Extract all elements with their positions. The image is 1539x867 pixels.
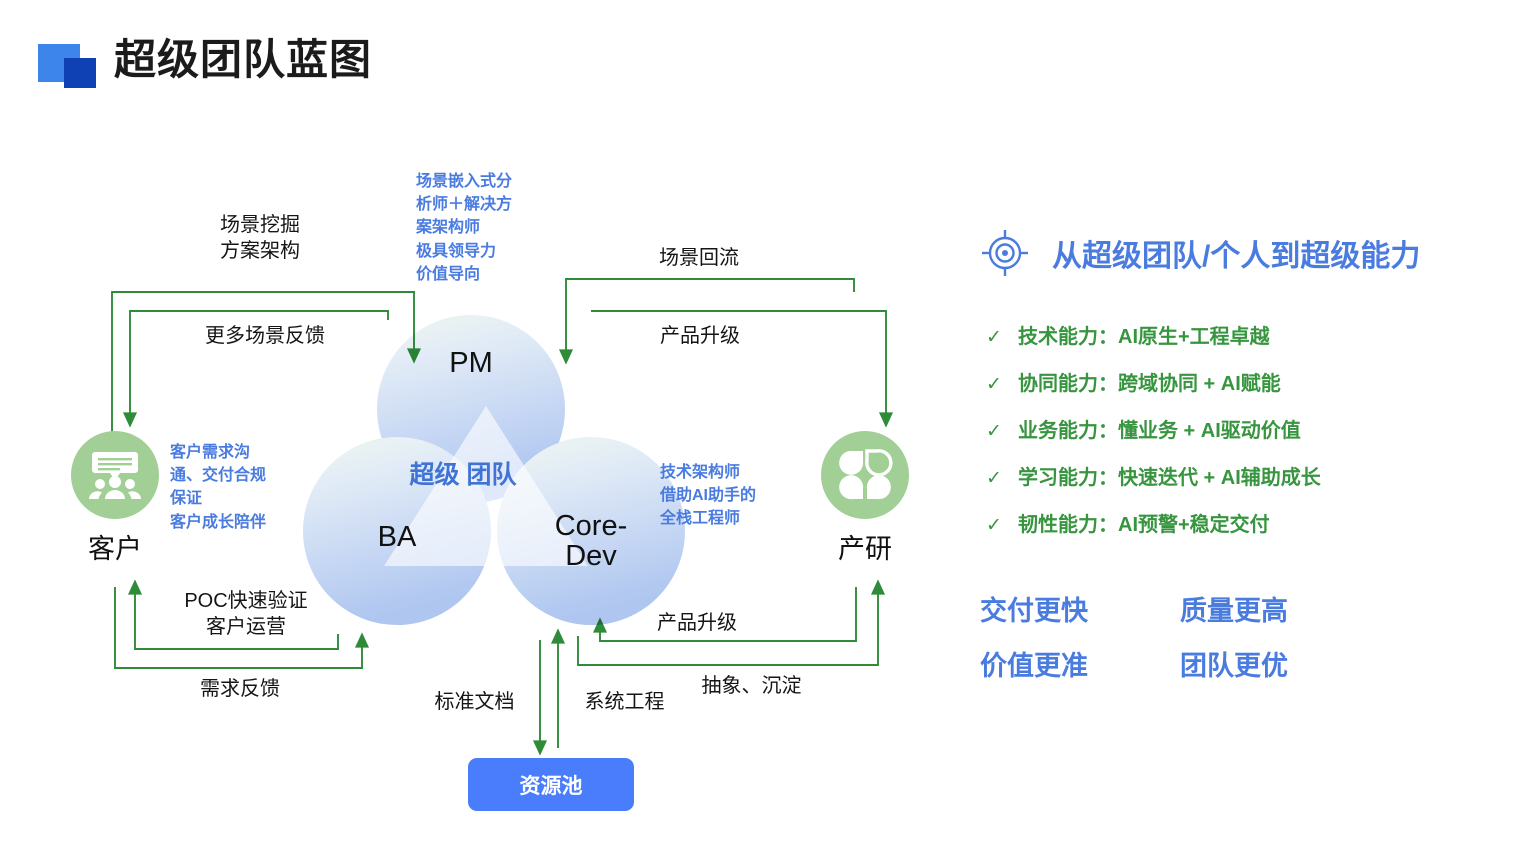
venn-circle-core-dev-label: Core- Dev [497, 511, 685, 572]
node-customer[interactable]: 客户 [71, 431, 159, 566]
check-icon: ✓ [980, 373, 1018, 396]
annotation-pm: 场景嵌入式分 析师＋解决方 案架构师 极具领导力 价值导向 [416, 170, 566, 286]
target-crosshair-icon [980, 228, 1030, 278]
outcome-row: 价值更准 团队更优 [980, 644, 1510, 683]
capability-panel-title: 从超级团队/个人到超级能力 [1052, 231, 1420, 275]
venn-circle-pm-label: PM [377, 348, 565, 378]
four-petal-clover-icon [821, 431, 909, 519]
flow-label-scene-mining: 场景挖掘 方案架构 [170, 212, 350, 265]
capability-list-item: ✓ 韧性能力：AI预警+稳定交付 [980, 508, 1510, 537]
annotation-core-dev: 技术架构师 借助AI助手的 全栈工程师 [660, 461, 810, 531]
flow-label-standard-doc: 标准文档 [412, 689, 537, 715]
resource-pool-box[interactable]: 资源池 [468, 758, 634, 811]
capability-list-item: ✓ 学习能力：快速迭代 + AI辅助成长 [980, 461, 1510, 490]
node-rnd-label: 产研 [821, 527, 909, 566]
capability-list-item: ✓ 技术能力：AI原生+工程卓越 [980, 320, 1510, 349]
capability-item-label: 业务能力：懂业务 + AI驱动价值 [1018, 414, 1301, 443]
logo-dark-square [64, 58, 96, 88]
flow-label-abstraction: 抽象、沉淀 [674, 673, 829, 699]
annotation-customer: 客户需求沟 通、交付合规 保证 客户成长陪伴 [170, 441, 310, 534]
check-icon: ✓ [980, 514, 1018, 537]
resource-pool-label: 资源池 [520, 770, 583, 800]
node-customer-label: 客户 [71, 527, 159, 566]
people-chat-icon [71, 431, 159, 519]
outcome-label: 质量更高 [1180, 589, 1380, 628]
capability-list-item: ✓ 业务能力：懂业务 + AI驱动价值 [980, 414, 1510, 443]
check-icon: ✓ [980, 326, 1018, 349]
capability-panel-header: 从超级团队/个人到超级能力 [980, 228, 1510, 278]
capability-list-item: ✓ 协同能力：跨域协同 + AI赋能 [980, 367, 1510, 396]
capability-item-label: 学习能力：快速迭代 + AI辅助成长 [1018, 461, 1321, 490]
flow-label-requirement-feedback: 需求反馈 [165, 676, 315, 702]
outcome-highlights: 交付更快 质量更高 价值更准 团队更优 [980, 589, 1510, 683]
two-tone-square-logo-icon [38, 34, 96, 86]
capability-list: ✓ 技术能力：AI原生+工程卓越 ✓ 协同能力：跨域协同 + AI赋能 ✓ 业务… [980, 320, 1510, 537]
node-rnd[interactable]: 产研 [821, 431, 909, 566]
flow-label-product-upgrade-top: 产品升级 [625, 323, 775, 349]
capability-panel: 从超级团队/个人到超级能力 ✓ 技术能力：AI原生+工程卓越 ✓ 协同能力：跨域… [980, 228, 1510, 699]
venn-circle-ba-label: BA [303, 522, 491, 552]
flow-label-system-engineering: 系统工程 [562, 689, 687, 715]
flow-label-scene-backflow: 场景回流 [624, 245, 774, 271]
outcome-row: 交付更快 质量更高 [980, 589, 1510, 628]
outcome-label: 团队更优 [1180, 644, 1380, 683]
outcome-label: 价值更准 [980, 644, 1180, 683]
capability-item-label: 韧性能力：AI预警+稳定交付 [1018, 508, 1270, 537]
capability-item-label: 技术能力：AI原生+工程卓越 [1018, 320, 1270, 349]
flow-label-poc-validation: POC快速验证 客户运营 [156, 588, 336, 641]
venn-center-label: 超级 团队 [398, 460, 528, 491]
flow-label-more-scene-feedback: 更多场景反馈 [170, 323, 360, 349]
check-icon: ✓ [980, 467, 1018, 490]
page-header: 超级团队蓝图 [38, 34, 372, 86]
check-icon: ✓ [980, 420, 1018, 443]
flow-label-product-upgrade-bottom: 产品升级 [622, 610, 772, 636]
capability-item-label: 协同能力：跨域协同 + AI赋能 [1018, 367, 1281, 396]
page-title: 超级团队蓝图 [114, 39, 372, 81]
outcome-label: 交付更快 [980, 589, 1180, 628]
